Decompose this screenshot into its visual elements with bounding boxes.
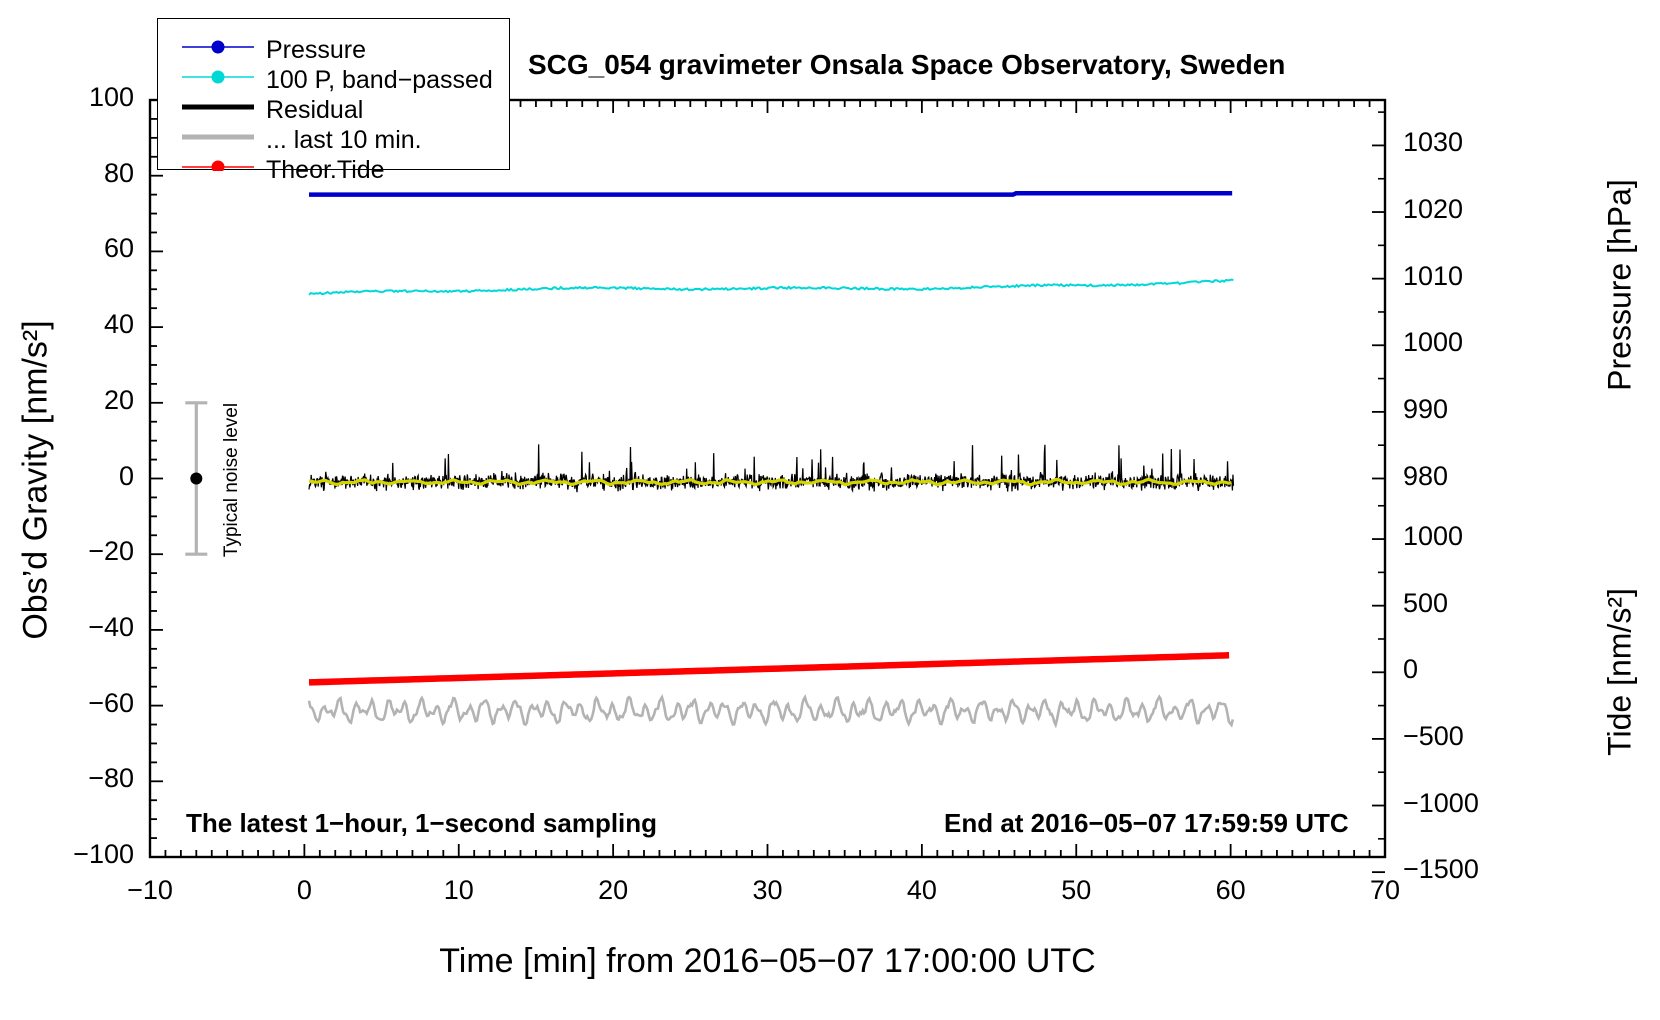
chart-canvas: SCG_054 gravimeter Onsala Space Observat… — [0, 0, 1660, 1020]
y-left-tick-label: −100 — [73, 839, 134, 870]
y-left-tick-label: 60 — [104, 233, 134, 264]
x-tick-label: 30 — [752, 875, 782, 906]
legend-label: 100 P, band−passed — [266, 66, 493, 95]
legend-label: Pressure — [266, 36, 366, 65]
x-axis-title: Time [min] from 2016−05−07 17:00:00 UTC — [439, 942, 1095, 981]
y-pressure-tick-label: 1030 — [1403, 127, 1463, 158]
y-left-tick-label: 80 — [104, 158, 134, 189]
legend-label: ... last 10 min. — [266, 126, 422, 155]
y-tide-tick-label: −500 — [1403, 721, 1464, 752]
y-left-tick-label: −60 — [88, 688, 134, 719]
x-tick-label: 60 — [1216, 875, 1246, 906]
legend-label: Residual — [266, 96, 363, 125]
y-pressure-tick-label: 1010 — [1403, 261, 1463, 292]
y-left-tick-label: 100 — [89, 82, 134, 113]
page-title: SCG_054 gravimeter Onsala Space Observat… — [528, 49, 1285, 81]
data-series — [309, 193, 1233, 725]
y-pressure-tick-label: 1020 — [1403, 194, 1463, 225]
y-left-tick-label: −80 — [88, 763, 134, 794]
x-tick-label: 50 — [1061, 875, 1091, 906]
y-tide-tick-label: 0 — [1403, 654, 1418, 685]
y-pressure-tick-label: 980 — [1403, 461, 1448, 492]
y-left-tick-label: −20 — [88, 536, 134, 567]
y-tide-tick-label: 500 — [1403, 588, 1448, 619]
x-tick-label: 10 — [444, 875, 474, 906]
y-pressure-tick-label: 1000 — [1403, 327, 1463, 358]
legend-label: Theor.Tide — [266, 156, 385, 185]
legend-item-last10[interactable]: ... last 10 min. — [158, 129, 511, 159]
y-tide-tick-label: −1500 — [1403, 854, 1479, 885]
x-tick-label: 40 — [907, 875, 937, 906]
legend: Pressure 100 P, band−passed Residual ...… — [157, 18, 510, 170]
y-axis-left-title: Obs’d Gravity [nm/s²] — [17, 320, 56, 639]
x-tick-label: 20 — [598, 875, 628, 906]
noise-level-label: Typical noise level — [221, 403, 243, 557]
y-left-tick-label: −40 — [88, 612, 134, 643]
y-tide-tick-label: −1000 — [1403, 788, 1479, 819]
x-tick-label: 70 — [1370, 875, 1400, 906]
y-left-tick-label: 40 — [104, 309, 134, 340]
x-tick-label: 0 — [297, 875, 312, 906]
legend-item-theortide[interactable]: Theor.Tide — [158, 159, 511, 189]
x-tick-label: −10 — [127, 875, 173, 906]
sampling-note: The latest 1−hour, 1−second sampling — [186, 808, 657, 839]
legend-item-residual[interactable]: Residual — [158, 99, 511, 129]
y-left-tick-label: 20 — [104, 385, 134, 416]
y-left-tick-label: 0 — [119, 461, 134, 492]
y-tide-tick-label: 1000 — [1403, 521, 1463, 552]
legend-item-pressure[interactable]: Pressure — [158, 39, 511, 69]
legend-item-bandpassed[interactable]: 100 P, band−passed — [158, 69, 511, 99]
y-axis-tide-title: Tide [nm/s²] — [1602, 588, 1639, 756]
end-time-note: End at 2016−05−07 17:59:59 UTC — [944, 808, 1349, 839]
y-pressure-tick-label: 990 — [1403, 394, 1448, 425]
y-axis-pressure-title: Pressure [hPa] — [1602, 179, 1639, 391]
noise-errorbar — [185, 403, 207, 554]
